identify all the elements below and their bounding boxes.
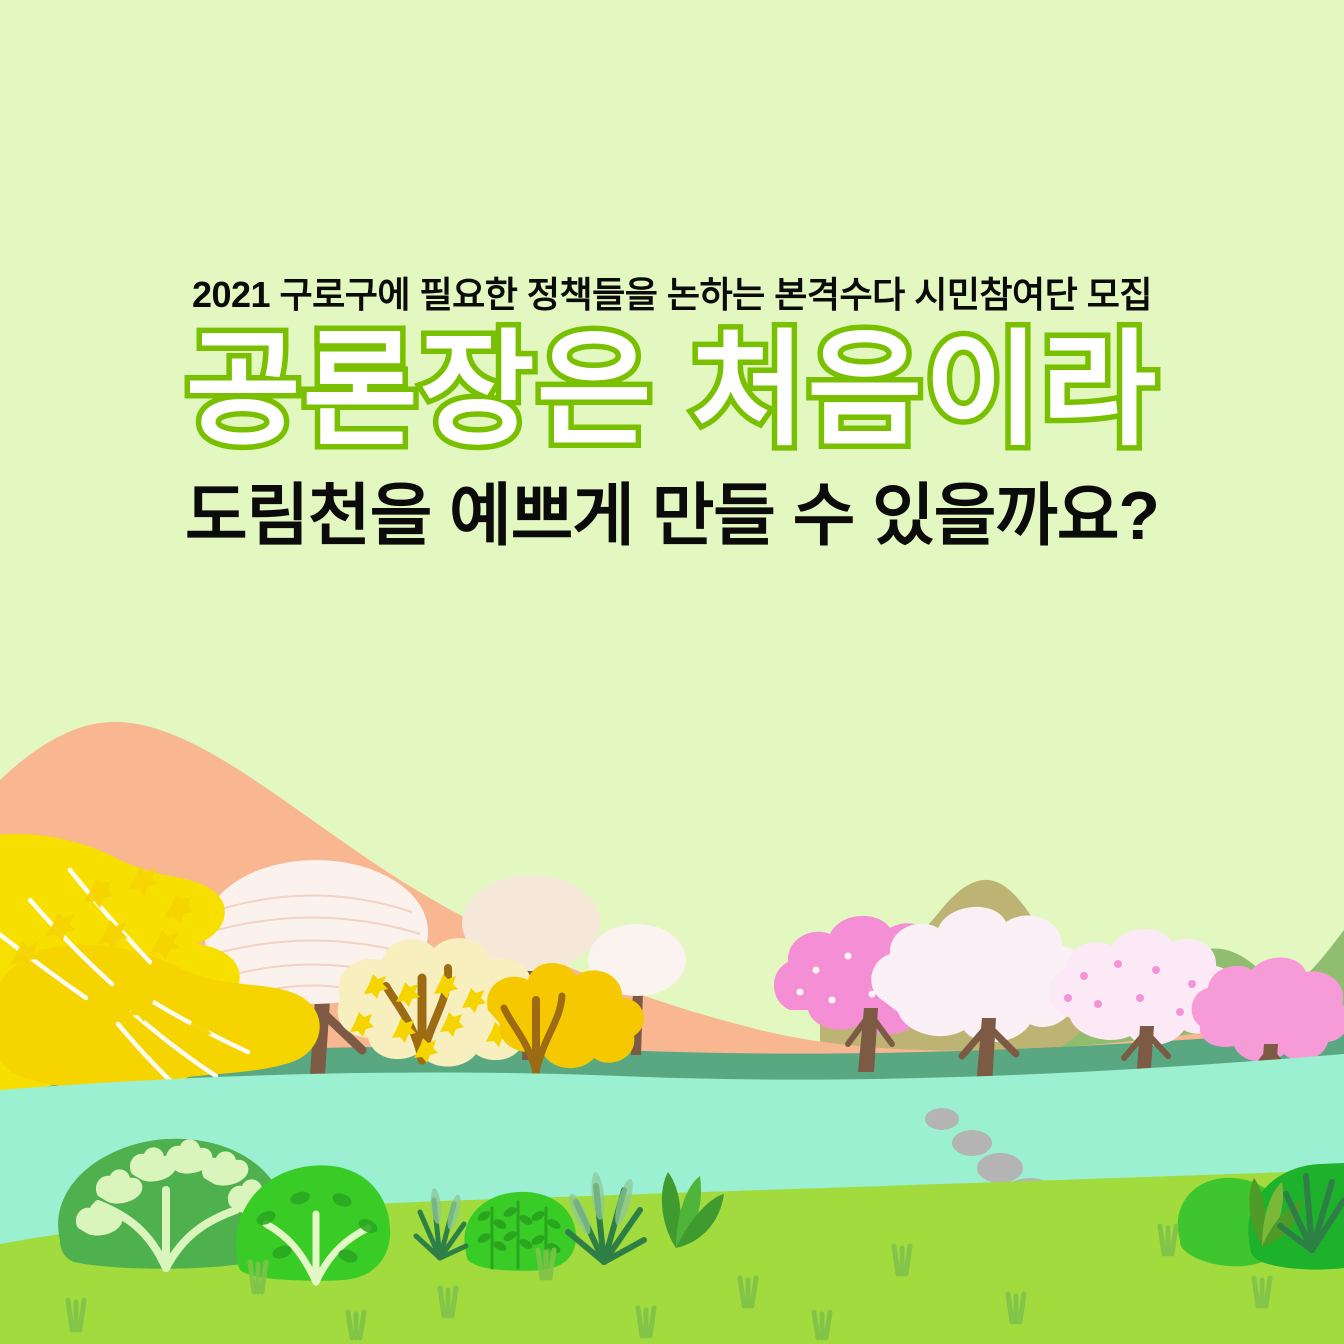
grass-tuft [894,1246,910,1274]
eyebrow-text: 2021 구로구에 필요한 정책들을 논하는 본격수다 시민참여단 모집 [0,274,1344,315]
grass-tuft [68,1300,84,1330]
poster-canvas: Digital GURO 2021 구로구에 필요한 정책들을 논하는 본격수다… [0,0,1344,1344]
page-subtitle: 도림천을 예쁘게 만들 수 있을까요? [0,479,1344,554]
grass-tuft [740,1278,756,1306]
grass-tuft [538,1250,554,1278]
grass-tuft [638,1308,654,1336]
stepping-stone [977,1153,1023,1183]
grass-tuft [348,1312,364,1338]
grass-tuft [1008,1294,1024,1322]
stepping-stone [952,1130,992,1156]
grass-tuft [1160,1226,1176,1254]
spring-riverside-illustration [0,0,1344,1344]
page-title: 공론장은 처음이라 [0,321,1344,461]
grass-tuft [440,1288,456,1316]
grass-tuft [814,1312,830,1338]
grass-tuft [250,1262,266,1292]
stepping-stone [925,1108,959,1130]
grass-tuft [1254,1278,1270,1306]
headline-group: 2021 구로구에 필요한 정책들을 논하는 본격수다 시민참여단 모집 공론장… [0,274,1344,554]
